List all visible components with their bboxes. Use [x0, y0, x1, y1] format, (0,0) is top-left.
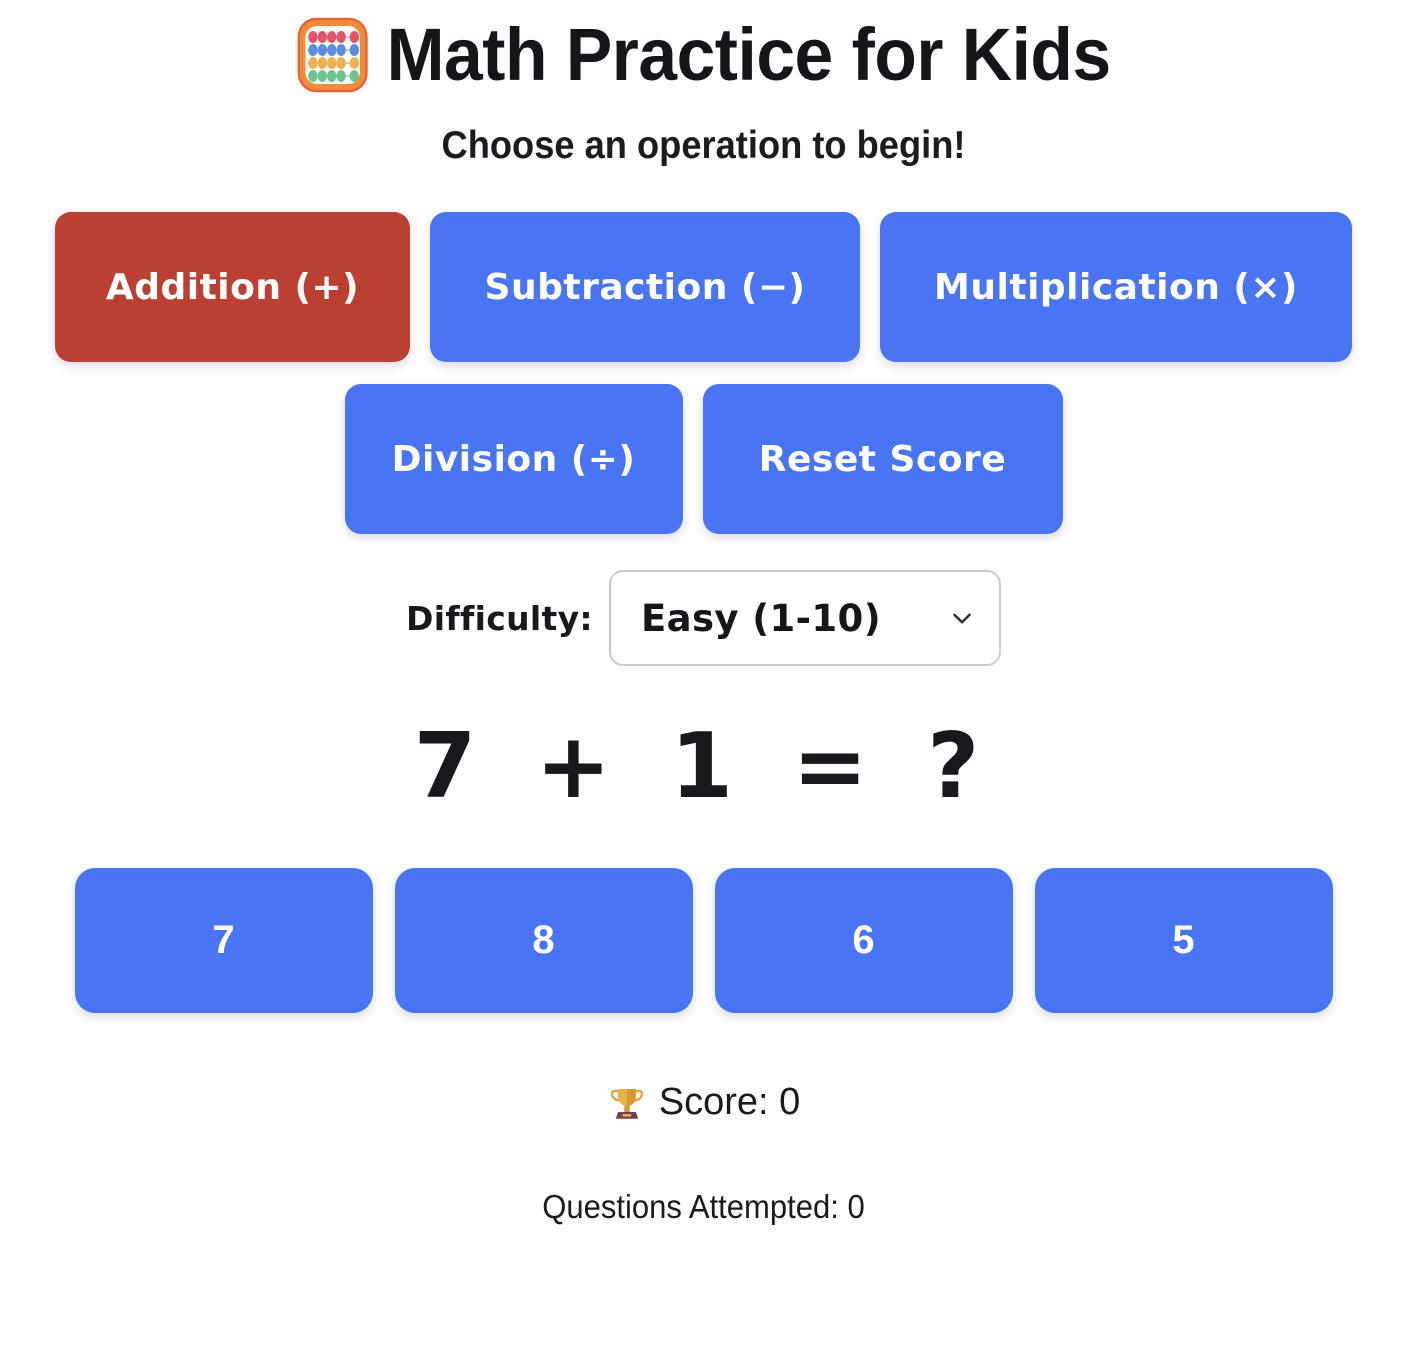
score-text: Score: 0: [659, 1081, 801, 1124]
difficulty-select[interactable]: Easy (1-10): [609, 570, 1001, 666]
answer-button-row: 7 8 6 5: [0, 868, 1407, 1013]
difficulty-selected-value: Easy (1-10): [641, 597, 949, 640]
operation-button-row-1: Addition (+) Subtraction (−) Multiplicat…: [0, 212, 1407, 362]
operation-button-subtraction[interactable]: Subtraction (−): [430, 212, 860, 362]
answer-option-3[interactable]: 6: [715, 868, 1013, 1013]
page-subtitle: Choose an operation to begin!: [49, 124, 1358, 168]
page-title: Math Practice for Kids: [42, 16, 1365, 94]
page-header: Math Practice for Kids Choose an operati…: [0, 0, 1407, 168]
score-row: Score: 0: [0, 1081, 1407, 1124]
answer-option-1[interactable]: 7: [75, 868, 373, 1013]
questions-attempted-text: Questions Attempted: 0: [42, 1188, 1365, 1226]
question-equation: 7 + 1 = ?: [0, 722, 1407, 812]
reset-score-button[interactable]: Reset Score: [703, 384, 1063, 534]
operation-button-multiplication[interactable]: Multiplication (×): [880, 212, 1352, 362]
chevron-down-icon: [949, 605, 975, 631]
operation-button-division[interactable]: Division (÷): [345, 384, 683, 534]
abacus-icon: [296, 16, 369, 94]
difficulty-label: Difficulty:: [406, 599, 593, 638]
answer-option-2[interactable]: 8: [395, 868, 693, 1013]
operation-button-addition[interactable]: Addition (+): [55, 212, 410, 362]
answer-option-4[interactable]: 5: [1035, 868, 1333, 1013]
difficulty-row: Difficulty: Easy (1-10): [0, 570, 1407, 666]
trophy-icon: [607, 1083, 647, 1123]
operation-button-row-2: Division (÷) Reset Score: [0, 384, 1407, 534]
page-title-text: Math Practice for Kids: [387, 18, 1111, 92]
